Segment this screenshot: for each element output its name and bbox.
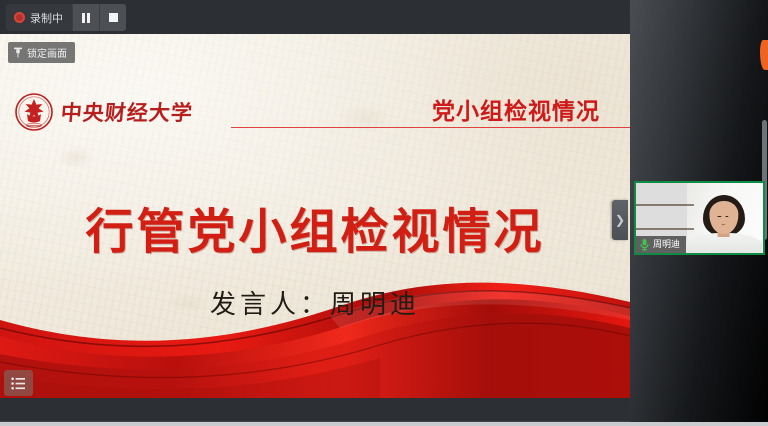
pause-icon	[82, 13, 90, 23]
university-logo: 中央财经大学	[14, 92, 193, 132]
recording-toolbar: 录制中	[6, 4, 126, 31]
figure-eye-right	[726, 216, 729, 218]
participant-name: 周明迪	[653, 239, 680, 250]
list-menu-glyph	[11, 377, 26, 390]
figure-mouth	[722, 224, 726, 225]
participants-panel: 周明迪	[630, 0, 768, 424]
header-divider-rule	[231, 127, 630, 128]
pause-recording-button[interactable]	[72, 4, 99, 31]
screen-share-stage: 中央财经大学 党小组检视情况 行管党小组检视情况 发言人：周明迪	[0, 34, 630, 422]
recording-status-label: 录制中	[30, 10, 63, 26]
slide-speaker-line: 发言人：周明迪	[0, 284, 630, 321]
window-bottom-frame	[0, 422, 768, 426]
slide-main-title: 行管党小组检视情况	[0, 192, 630, 262]
university-name: 中央财经大学	[60, 97, 195, 127]
figure-face	[709, 201, 738, 234]
pin-icon	[13, 47, 23, 58]
lock-screen-tooltip: 锁定画面	[8, 42, 75, 63]
participant-figure	[694, 195, 752, 253]
orange-edge-indicator	[760, 40, 768, 70]
presentation-slide: 中央财经大学 党小组检视情况 行管党小组检视情况 发言人：周明迪	[0, 34, 630, 398]
recording-status: 录制中	[6, 4, 72, 31]
lock-screen-tooltip-label: 锁定画面	[27, 45, 67, 60]
figure-eye-left	[718, 216, 721, 218]
seal-svg	[14, 92, 54, 132]
microphone-glyph	[639, 238, 650, 251]
record-dot-icon	[14, 12, 25, 23]
stop-recording-button[interactable]	[99, 4, 126, 31]
participant-name-badge: 周明迪	[636, 236, 686, 253]
red-silk-ribbon-decoration	[0, 258, 630, 398]
meeting-window: 中央财经大学 党小组检视情况 行管党小组检视情况 发言人：周明迪	[0, 0, 768, 426]
stage-bottom-strip	[0, 398, 630, 422]
recording-topbar: 录制中	[0, 0, 630, 34]
ribbon-svg	[0, 258, 630, 398]
microphone-icon	[639, 238, 650, 251]
university-seal-icon	[14, 92, 54, 132]
participant-video-tile[interactable]: 周明迪	[634, 181, 765, 255]
list-menu-icon[interactable]	[4, 370, 33, 396]
stop-icon	[109, 13, 118, 22]
slide-header-title: 党小组检视情况	[432, 92, 600, 126]
